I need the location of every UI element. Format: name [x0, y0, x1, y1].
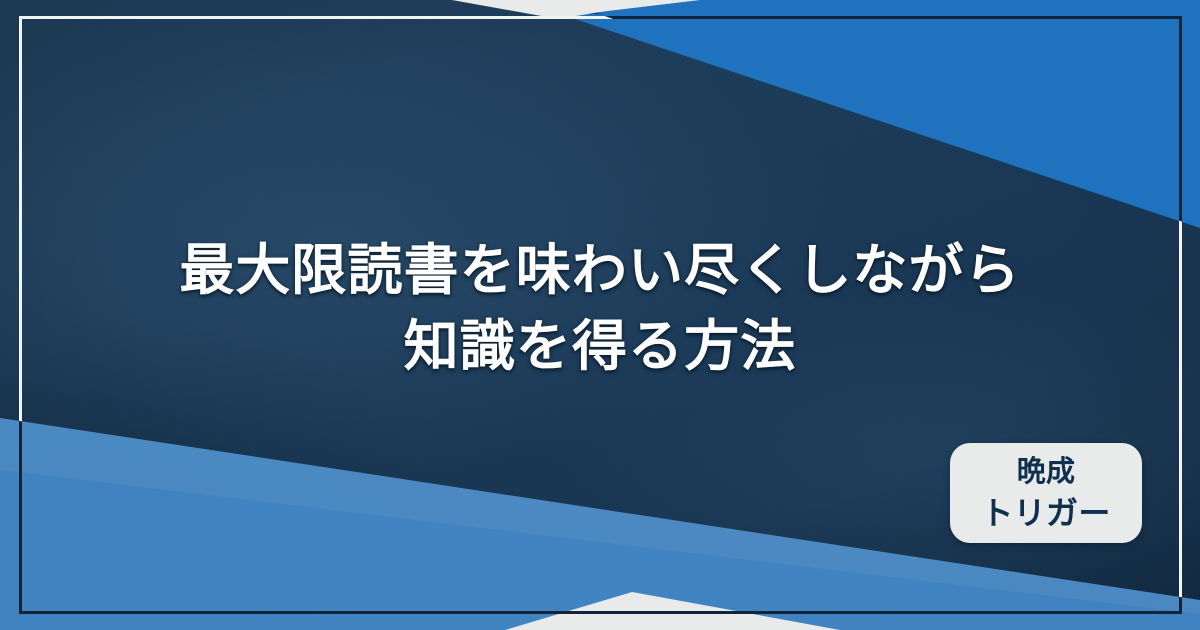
brand-badge-line-1: 晩成: [1017, 452, 1076, 492]
hero-title-line-2: 知識を得る方法: [90, 308, 1110, 384]
og-image-card: 最大限読書を味わい尽くしながら 知識を得る方法 晩成 トリガー: [0, 0, 1200, 630]
hero-title: 最大限読書を味わい尽くしながら 知識を得る方法: [0, 232, 1200, 384]
brand-badge-line-2: トリガー: [981, 492, 1110, 534]
brand-badge: 晩成 トリガー: [950, 443, 1142, 543]
hero-title-line-1: 最大限読書を味わい尽くしながら: [90, 232, 1110, 308]
top-right-blue-wedge: [560, 14, 1200, 228]
